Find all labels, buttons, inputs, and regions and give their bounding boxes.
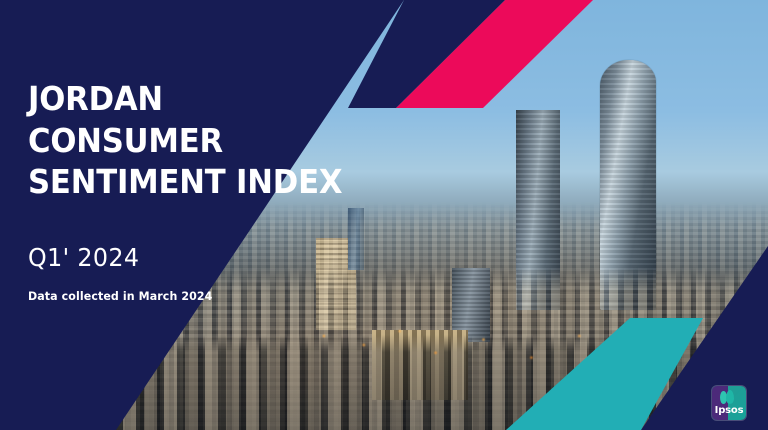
title-block: JORDAN CONSUMER SENTIMENT INDEX Q1' 2024…	[28, 78, 388, 303]
slide-canvas: JORDAN CONSUMER SENTIMENT INDEX Q1' 2024…	[0, 0, 768, 430]
page-title: JORDAN CONSUMER SENTIMENT INDEX	[28, 78, 363, 203]
data-collection-note: Data collected in March 2024	[28, 289, 374, 303]
ipsos-logo-icon: Ipsos	[712, 386, 746, 420]
logo-wordmark: Ipsos	[712, 406, 746, 416]
logo-drop-mark	[726, 390, 734, 404]
quarter-label: Q1' 2024	[28, 243, 370, 272]
